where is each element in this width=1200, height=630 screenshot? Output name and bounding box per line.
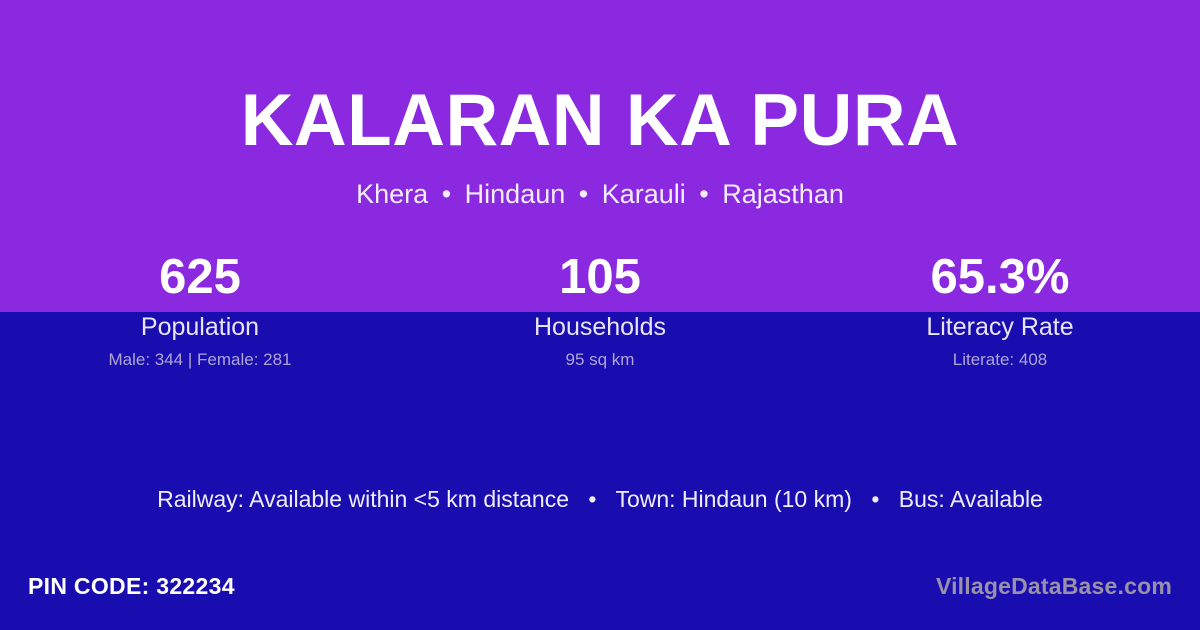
breadcrumb-item-2: Karauli — [602, 179, 686, 209]
infrastructure-separator: • — [858, 486, 892, 512]
infrastructure-item-town: Town: Hindaun (10 km) — [615, 486, 852, 512]
infrastructure-row: Railway: Available within <5 km distance… — [0, 484, 1200, 514]
stat-literacy-rate: 65.3% Literacy Rate Literate: 408 — [800, 248, 1200, 371]
stat-sub-households: 95 sq km — [400, 349, 800, 371]
header: KALARAN KA PURA Khera • Hindaun • Karaul… — [0, 0, 1200, 208]
stat-sub-literacy-rate: Literate: 408 — [800, 349, 1200, 371]
breadcrumb-separator: • — [573, 179, 594, 209]
breadcrumb-item-0: Khera — [356, 179, 428, 209]
infrastructure-item-bus: Bus: Available — [899, 486, 1043, 512]
stat-households: 105 Households 95 sq km — [400, 248, 800, 371]
breadcrumb-item-3: Rajasthan — [722, 179, 844, 209]
stat-sub-population: Male: 344 | Female: 281 — [0, 349, 400, 371]
stat-value-population: 625 — [0, 248, 400, 306]
stat-label-literacy-rate: Literacy Rate — [800, 312, 1200, 342]
stat-population: 625 Population Male: 344 | Female: 281 — [0, 248, 400, 371]
brand-watermark: VillageDataBase.com — [936, 572, 1172, 600]
stat-value-literacy-rate: 65.3% — [800, 248, 1200, 306]
village-info-card: KALARAN KA PURA Khera • Hindaun • Karaul… — [0, 0, 1200, 630]
infrastructure-separator: • — [575, 486, 609, 512]
stat-value-households: 105 — [400, 248, 800, 306]
footer: PIN CODE: 322234 VillageDataBase.com — [0, 560, 1200, 630]
page-title: KALARAN KA PURA — [0, 0, 1200, 157]
stat-label-population: Population — [0, 312, 400, 342]
breadcrumb: Khera • Hindaun • Karauli • Rajasthan — [0, 157, 1200, 208]
stats-row: 625 Population Male: 344 | Female: 281 1… — [0, 248, 1200, 371]
breadcrumb-separator: • — [693, 179, 714, 209]
breadcrumb-separator: • — [436, 179, 457, 209]
breadcrumb-item-1: Hindaun — [465, 179, 566, 209]
infrastructure-item-railway: Railway: Available within <5 km distance — [157, 486, 569, 512]
pin-code: PIN CODE: 322234 — [28, 572, 235, 600]
stat-label-households: Households — [400, 312, 800, 342]
